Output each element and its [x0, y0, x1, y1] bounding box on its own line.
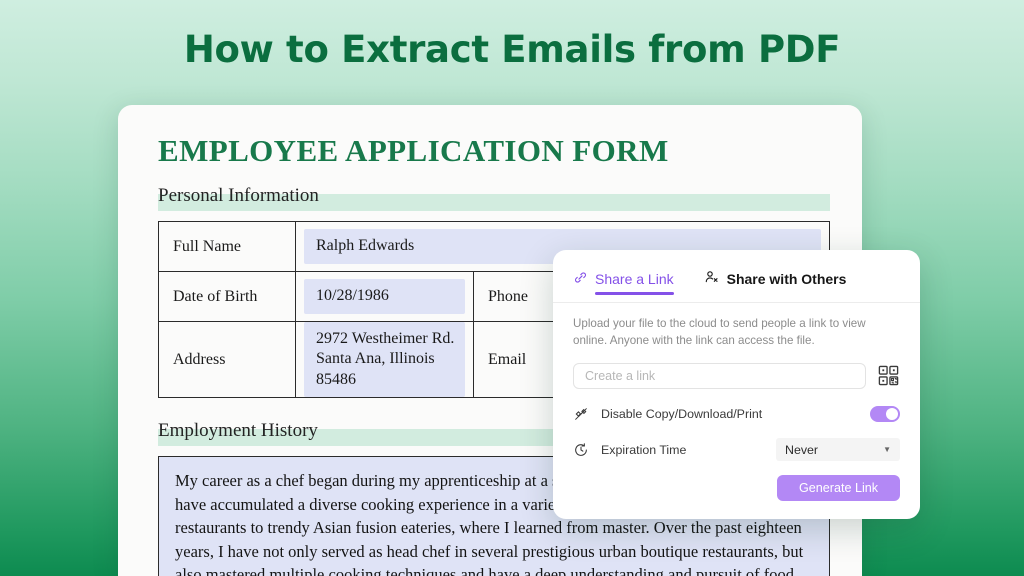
create-link-input[interactable]: [573, 363, 866, 389]
expiration-time-value: Never: [785, 443, 818, 457]
field-value-date-of-birth: 10/28/1986: [304, 279, 465, 313]
dialog-description: Upload your file to the cloud to send pe…: [573, 316, 900, 350]
field-value-address: 2972 Westheimer Rd. Santa Ana, Illinois …: [304, 322, 465, 397]
field-label-address: Address: [159, 322, 296, 398]
field-label-full-name: Full Name: [159, 222, 296, 272]
option-expiration-time: Expiration Time Never ▼: [573, 439, 900, 461]
tab-label: Share with Others: [727, 271, 847, 287]
tab-label: Share a Link: [595, 271, 674, 287]
option-disable-copy: Disable Copy/Download/Print: [573, 403, 900, 425]
option-label: Disable Copy/Download/Print: [601, 407, 870, 421]
dialog-body: Upload your file to the cloud to send pe…: [553, 303, 920, 461]
no-copy-icon: [573, 406, 593, 422]
document-heading: EMPLOYEE APPLICATION FORM: [158, 133, 838, 169]
field-label-date-of-birth: Date of Birth: [159, 272, 296, 322]
qr-code-icon[interactable]: [877, 364, 900, 387]
field-value-address-cell[interactable]: 2972 Westheimer Rd. Santa Ana, Illinois …: [296, 322, 474, 398]
expiration-time-select[interactable]: Never ▼: [776, 438, 900, 461]
section-heading-label: Employment History: [158, 420, 324, 442]
tab-share-with-others[interactable]: Share with Others: [704, 269, 847, 295]
link-icon: [573, 270, 588, 288]
generate-link-button[interactable]: Generate Link: [777, 475, 900, 501]
option-label: Expiration Time: [601, 443, 776, 457]
clock-history-icon: [573, 442, 593, 458]
dialog-tabs: Share a Link Share with Others: [553, 250, 920, 298]
chevron-down-icon: ▼: [883, 445, 891, 454]
share-dialog: Share a Link Share with Others Upload yo…: [553, 250, 920, 519]
tab-share-a-link[interactable]: Share a Link: [573, 270, 674, 295]
field-value-date-of-birth-cell[interactable]: 10/28/1986: [296, 272, 474, 322]
person-add-icon: [704, 269, 720, 288]
page-title: How to Extract Emails from PDF: [0, 28, 1024, 71]
section-personal-information: Personal Information: [158, 185, 838, 211]
link-row: [573, 363, 900, 389]
disable-copy-toggle[interactable]: [870, 406, 900, 422]
section-heading-label: Personal Information: [158, 185, 325, 207]
